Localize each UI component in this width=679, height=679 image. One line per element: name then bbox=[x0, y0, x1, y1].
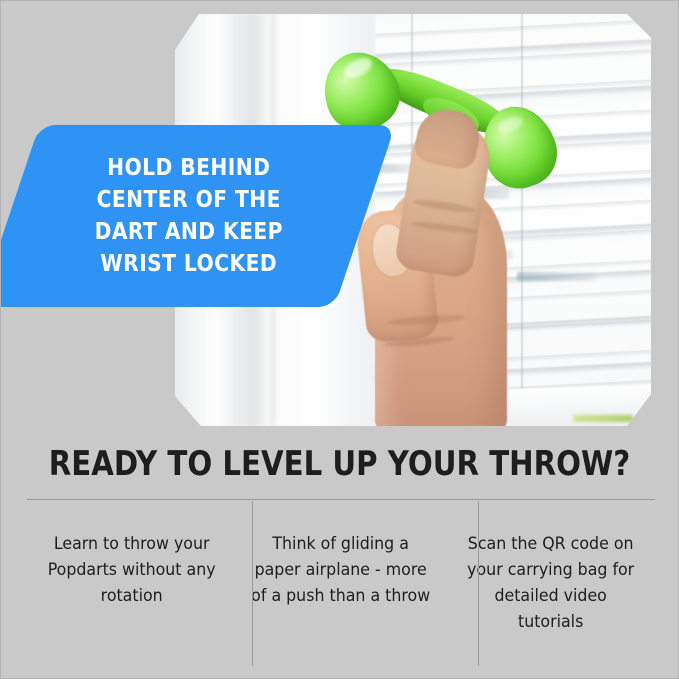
callout-line-2: CENTER OF THE bbox=[97, 185, 281, 215]
column-divider-2 bbox=[478, 501, 479, 666]
callout-line-1: HOLD BEHIND bbox=[107, 153, 270, 183]
callout-text: HOLD BEHIND CENTER OF THE DART AND KEEP … bbox=[30, 125, 343, 307]
callout-line-4: WRIST LOCKED bbox=[100, 249, 277, 279]
headline: READY TO LEVEL UP YOUR THROW? bbox=[48, 443, 630, 485]
tip-text-3: Scan the QR code on your carrying bag fo… bbox=[460, 531, 640, 635]
column-divider-1 bbox=[252, 501, 253, 666]
instruction-callout: HOLD BEHIND CENTER OF THE DART AND KEEP … bbox=[9, 125, 365, 307]
callout-line-3: DART AND KEEP bbox=[95, 217, 283, 247]
tip-text-1: Learn to throw your Popdarts without any… bbox=[42, 531, 222, 609]
tip-text-2: Think of gliding a paper airplane - more… bbox=[251, 531, 431, 609]
tip-column-2: Think of gliding a paper airplane - more… bbox=[236, 501, 445, 666]
tip-column-1: Learn to throw your Popdarts without any… bbox=[27, 501, 236, 666]
infographic-page: HOLD BEHIND CENTER OF THE DART AND KEEP … bbox=[0, 0, 679, 679]
blind-bottom-accent bbox=[573, 415, 633, 422]
tips-columns: Learn to throw your Popdarts without any… bbox=[27, 501, 655, 666]
horizontal-divider bbox=[27, 499, 655, 500]
